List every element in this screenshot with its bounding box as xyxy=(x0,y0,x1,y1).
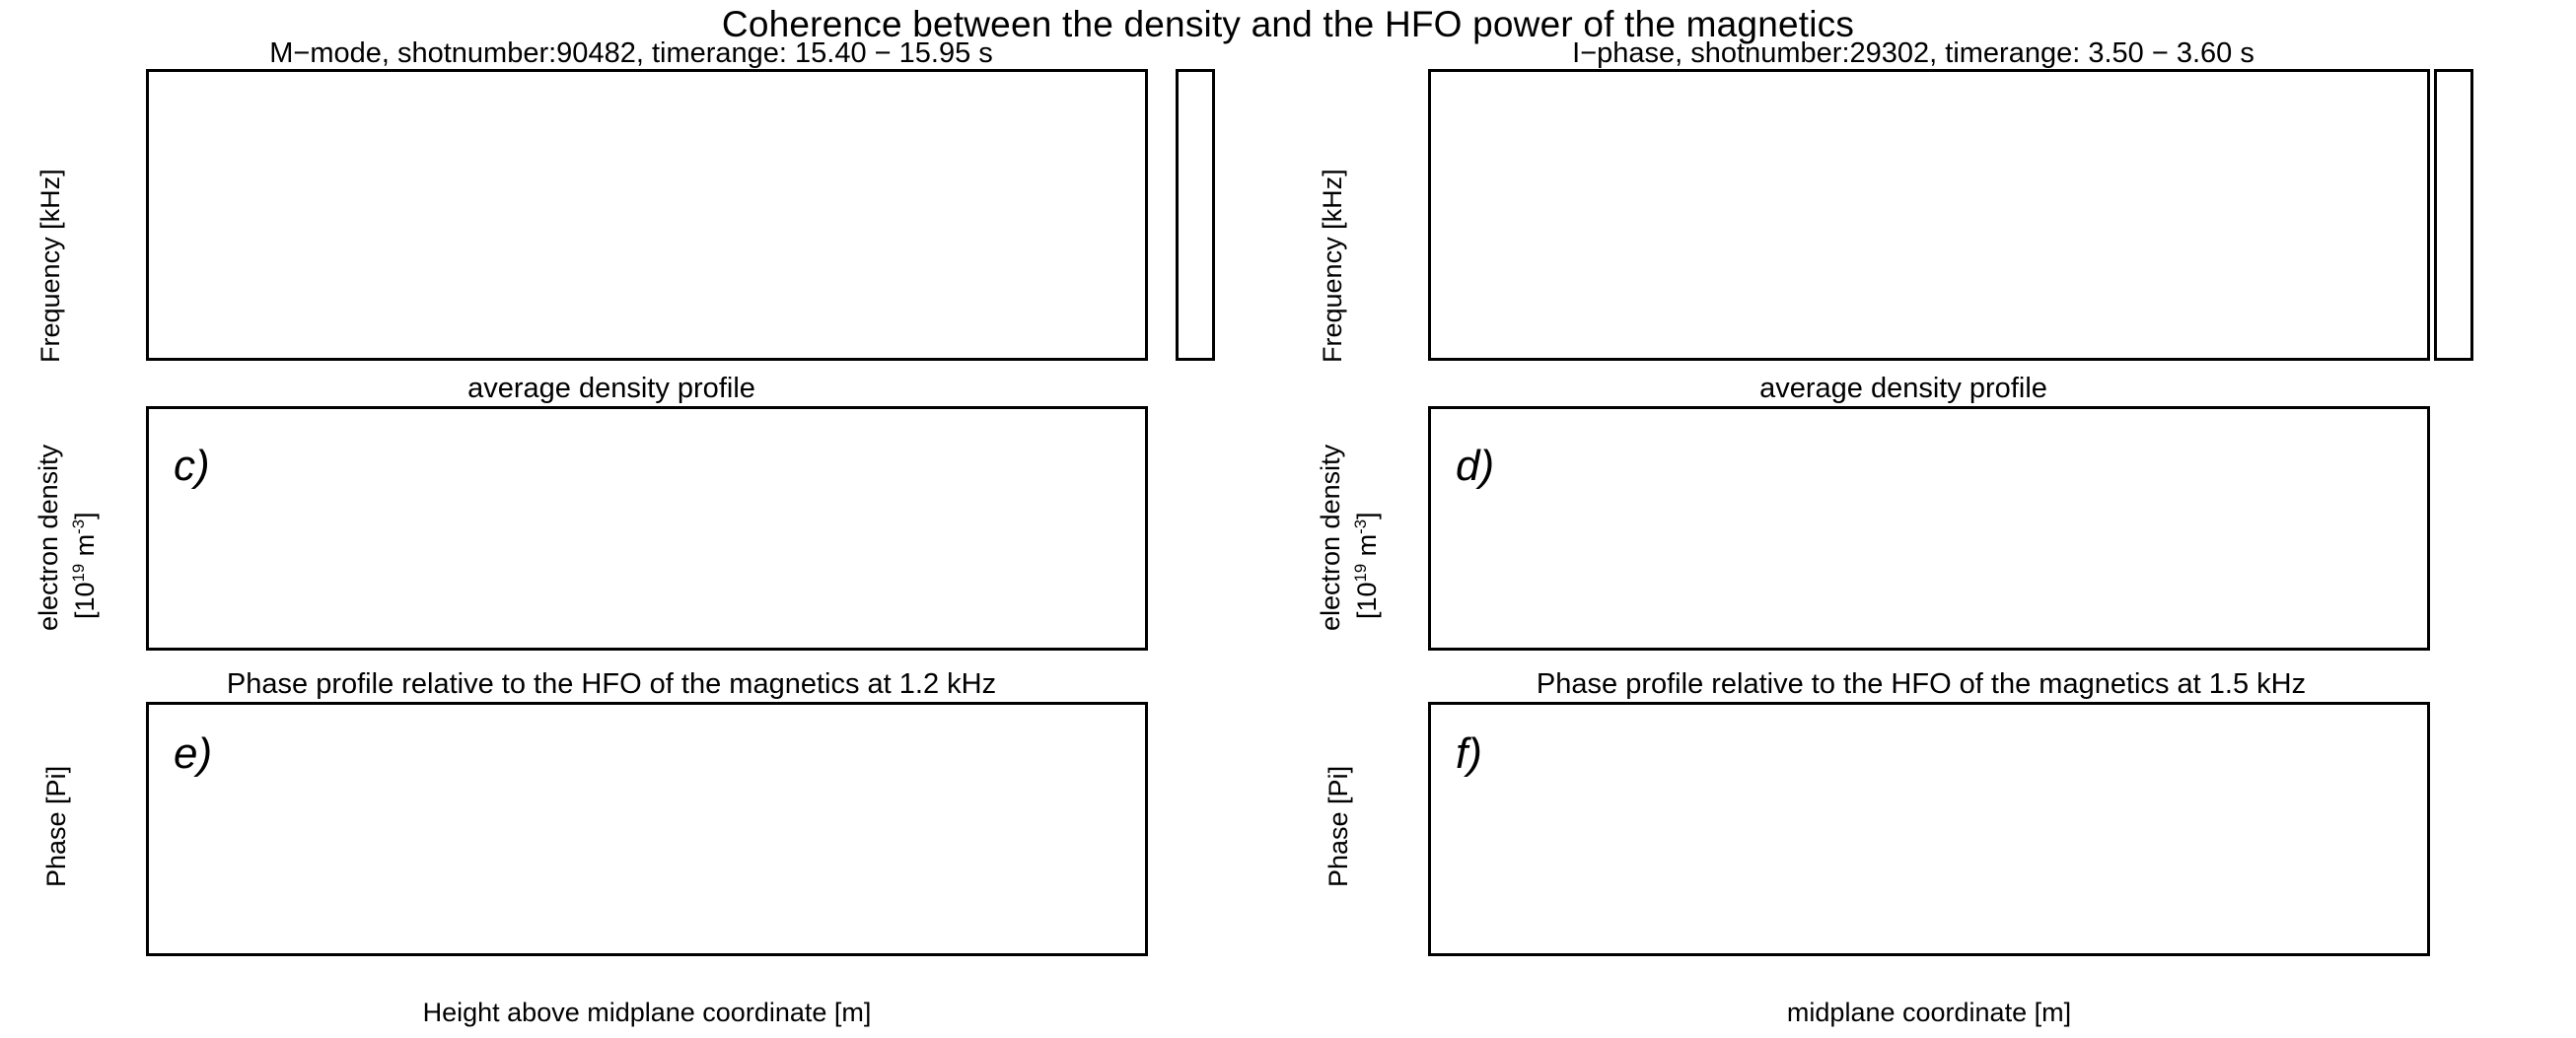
panel-f-xlabel: midplane coordinate [m] xyxy=(1787,998,2071,1028)
panel-f-letter: f) xyxy=(1456,729,1482,779)
figure-root: Coherence between the density and the HF… xyxy=(0,0,2576,1038)
panel-f-ylabel: Phase [Pi] xyxy=(1324,766,1354,887)
panel-f-overlay xyxy=(0,0,2576,1038)
